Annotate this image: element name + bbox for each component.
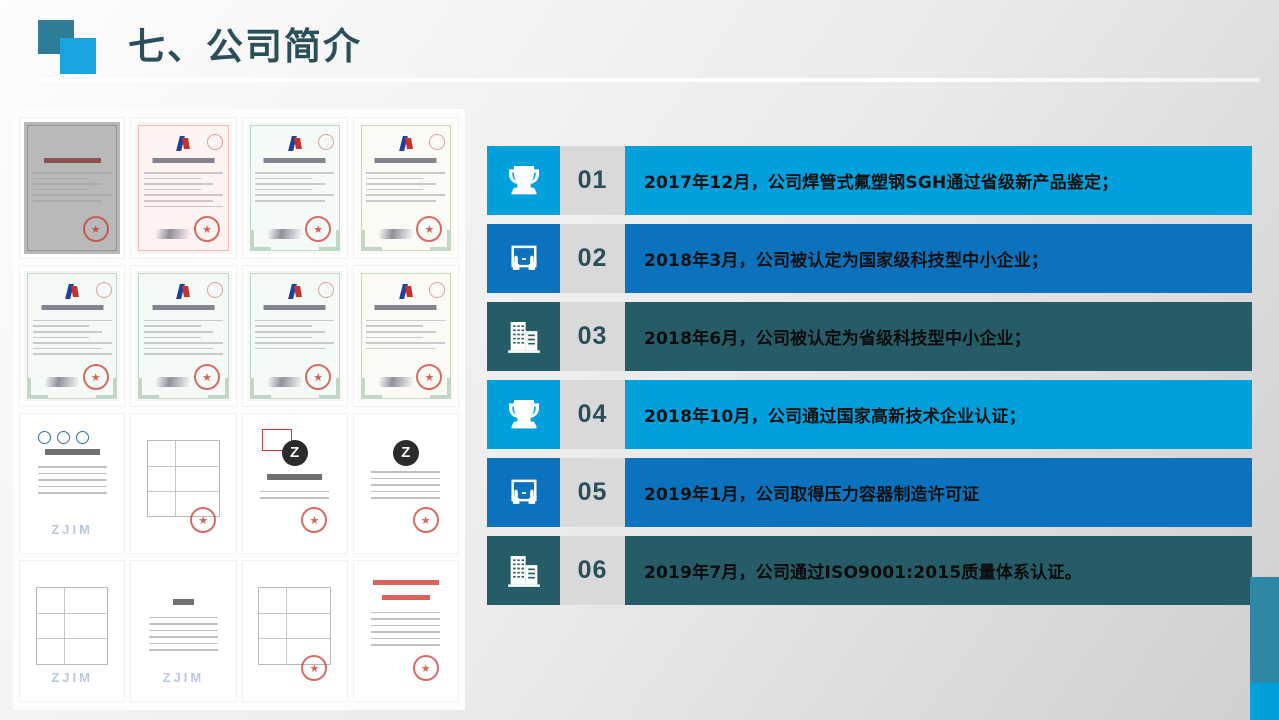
certificate-thumbnail[interactable]: ZJIM [130,560,236,702]
certificate-thumbnail[interactable]: ZJIM [19,560,125,702]
certificate-thumbnail[interactable] [353,560,459,702]
certificate-thumbnail[interactable] [130,413,236,555]
milestone-text: 2019年1月，公司取得压力容器制造许可证 [625,458,1252,527]
milestone-row[interactable]: 06 2019年7月，公司通过ISO9001:2015质量体系认证。 [487,536,1252,605]
certificate-hands-icon [504,239,544,279]
milestone-number: 04 [560,380,625,449]
milestone-text: 2017年12月，公司焊管式氟塑钢SGH通过省级新产品鉴定； [625,146,1252,215]
trophy-icon [504,395,544,435]
milestone-number: 03 [560,302,625,371]
milestone-number: 06 [560,536,625,605]
certificate-thumbnail[interactable] [19,117,125,259]
milestone-text: 2018年10月，公司通过国家高新技术企业认证； [625,380,1252,449]
edge-accent-cyan [1250,683,1279,720]
milestone-text: 2018年3月，公司被认定为国家级科技型中小企业； [625,224,1252,293]
milestone-number: 05 [560,458,625,527]
milestone-row[interactable]: 01 2017年12月，公司焊管式氟塑钢SGH通过省级新产品鉴定； [487,146,1252,215]
certificate-thumbnail[interactable] [130,117,236,259]
milestone-text: 2018年6月，公司被认定为省级科技型中小企业； [625,302,1252,371]
milestone-number: 01 [560,146,625,215]
certificate-thumbnail[interactable] [242,265,348,407]
certificate-thumbnail[interactable] [353,117,459,259]
building-icon [504,317,544,357]
milestone-icon-cell [487,224,560,293]
certificate-thumbnail[interactable]: ZJIM [19,413,125,555]
milestone-row[interactable]: 02 2018年3月，公司被认定为国家级科技型中小企业； [487,224,1252,293]
certificate-hands-icon [504,473,544,513]
milestone-icon-cell [487,536,560,605]
certificate-gallery: ZJIM Z Z ZJIM ZJIM [13,109,465,710]
title-divider [40,78,1260,82]
milestone-number: 02 [560,224,625,293]
milestone-icon-cell [487,380,560,449]
milestone-text: 2019年7月，公司通过ISO9001:2015质量体系认证。 [625,536,1252,605]
edge-accent-teal [1230,560,1250,604]
milestone-row[interactable]: 05 2019年1月，公司取得压力容器制造许可证 [487,458,1252,527]
milestone-row[interactable]: 04 2018年10月，公司通过国家高新技术企业认证； [487,380,1252,449]
edge-accent-steel [1250,577,1279,683]
decor-square-light-icon [60,38,96,74]
slide-header: 七、公司简介 [0,0,1279,96]
certificate-thumbnail[interactable] [19,265,125,407]
milestone-list: 01 2017年12月，公司焊管式氟塑钢SGH通过省级新产品鉴定； 02 201… [487,146,1252,614]
building-icon [504,551,544,591]
certificate-thumbnail[interactable] [130,265,236,407]
milestone-icon-cell [487,146,560,215]
certificate-thumbnail[interactable]: Z [242,413,348,555]
certificate-thumbnail[interactable] [242,560,348,702]
certificate-thumbnail[interactable]: Z [353,413,459,555]
certificate-thumbnail[interactable] [242,117,348,259]
page-title: 七、公司简介 [128,16,362,70]
milestone-icon-cell [487,458,560,527]
trophy-icon [504,161,544,201]
milestone-icon-cell [487,302,560,371]
milestone-row[interactable]: 03 2018年6月，公司被认定为省级科技型中小企业； [487,302,1252,371]
certificate-thumbnail[interactable] [353,265,459,407]
